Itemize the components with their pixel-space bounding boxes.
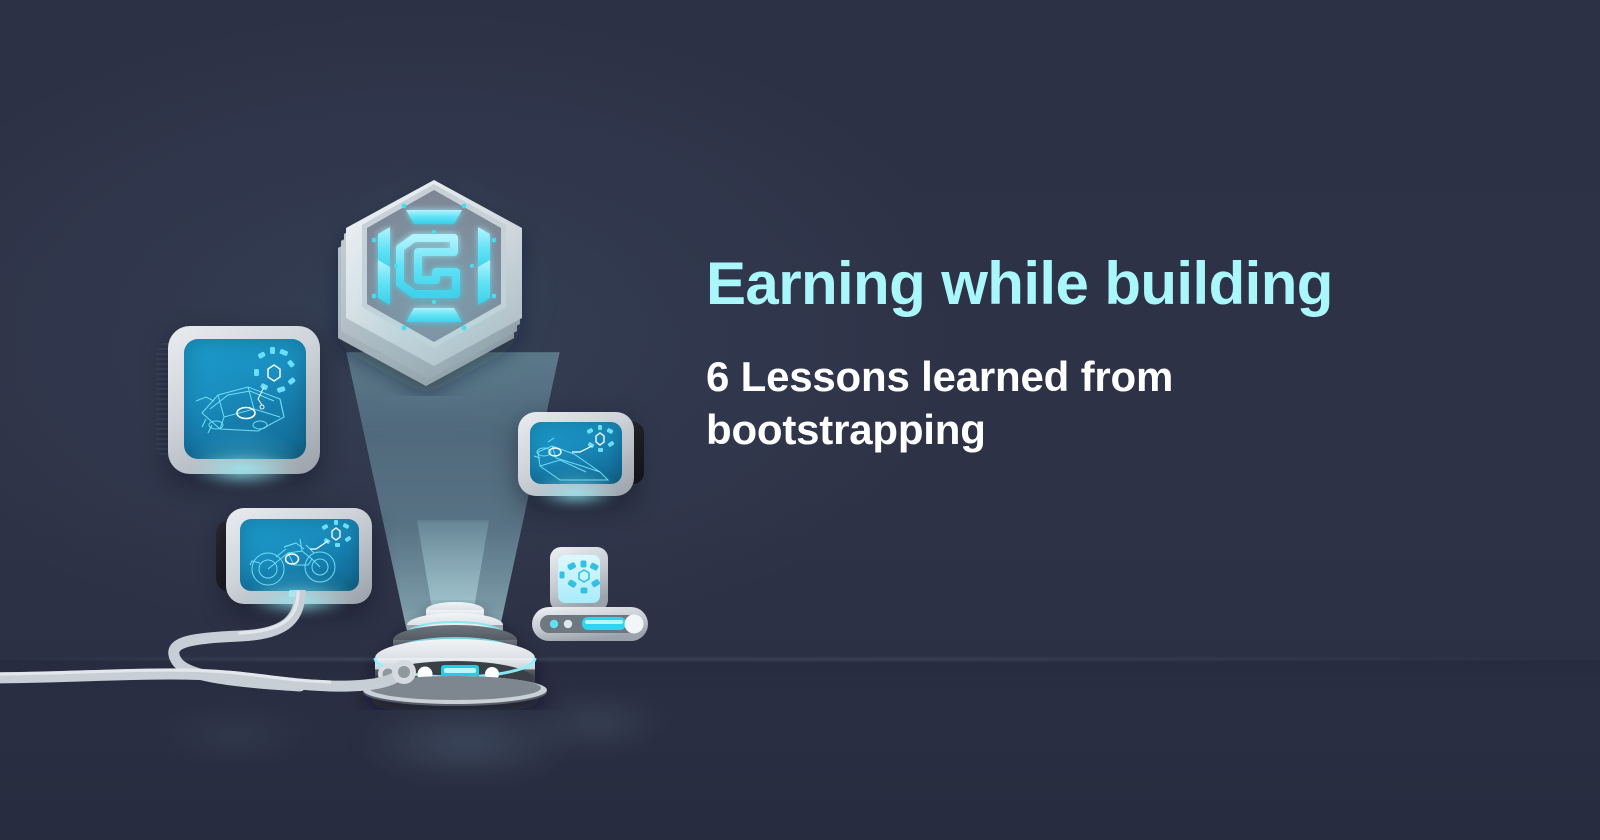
power-cables xyxy=(0,590,700,750)
panel-display xyxy=(184,339,306,459)
hexagon-glow xyxy=(324,178,544,388)
motorcycle-blueprint-wireframe xyxy=(240,519,359,591)
hero-copy: Earning while building 6 Lessons learned… xyxy=(706,252,1566,457)
hero-banner: Earning while building 6 Lessons learned… xyxy=(0,0,1600,840)
screen-car-blueprint xyxy=(168,326,320,474)
hexagon-logo xyxy=(306,156,562,396)
hero-illustration xyxy=(0,0,700,840)
screen-vehicle-detail xyxy=(518,412,634,496)
cable-paths xyxy=(0,590,700,750)
car-blueprint-wireframe xyxy=(184,339,306,459)
vehicle-detail-wireframe xyxy=(530,422,622,484)
panel-underglow xyxy=(190,454,296,486)
panel-display xyxy=(530,422,622,484)
panel-display xyxy=(240,519,359,591)
panel-underglow xyxy=(534,482,618,506)
hero-subheadline: 6 Lessons learned from bootstrapping xyxy=(706,350,1346,458)
hero-headline: Earning while building xyxy=(706,252,1566,316)
